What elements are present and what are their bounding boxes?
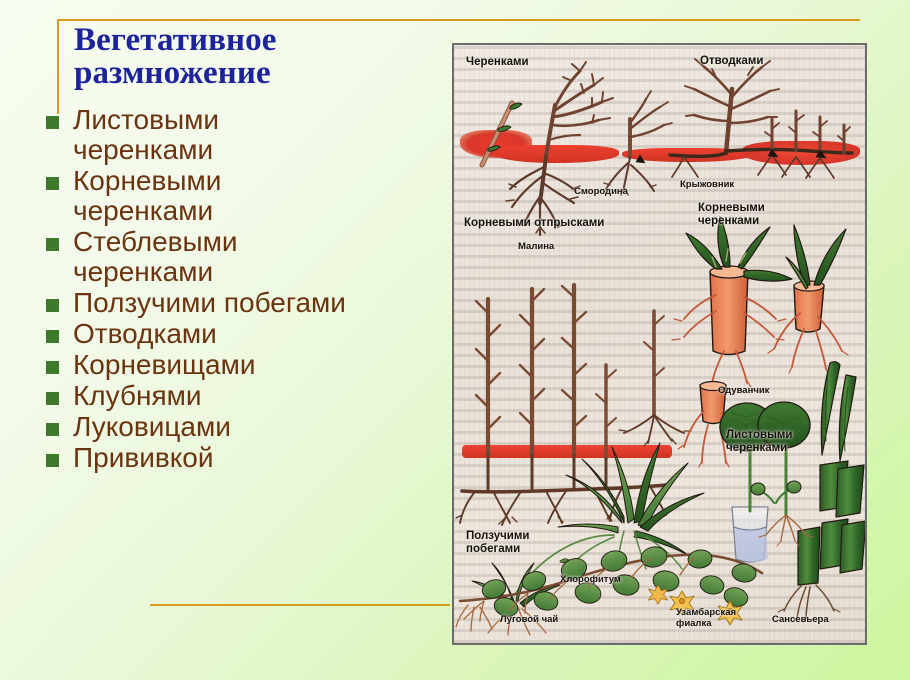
fig-root-cutting-large — [672, 217, 792, 387]
list-item-label: Отводками — [73, 319, 217, 349]
list-item[interactable]: Стеблевыми черенками — [46, 227, 450, 287]
bullet-list: Листовыми черенками Корневыми черенками … — [46, 105, 450, 474]
label-moneywort: Луговой чай — [500, 615, 558, 626]
list-item[interactable]: Корневищами — [46, 350, 450, 380]
list-item-label: Прививкой — [73, 443, 214, 473]
label-root-suckers: Корневыми отпрысками — [464, 217, 604, 230]
fig-layering-bush — [636, 59, 852, 178]
list-item-label: Листовыми черенками — [73, 105, 219, 165]
bullet-square-icon — [46, 177, 59, 190]
bullet-square-icon — [46, 361, 59, 374]
label-chlorophytum: Хлорофитум — [560, 575, 621, 586]
vegetative-propagation-illustration: Черенками Отводками Смородина Крыжовник … — [452, 43, 867, 645]
list-item-label: Стеблевыми черенками — [73, 227, 238, 287]
label-currant: Смородина — [574, 187, 628, 198]
fig-raspberry-suckers — [456, 285, 691, 525]
fig-gooseberry-stool — [604, 91, 672, 195]
label-layering: Отводками — [700, 55, 763, 68]
label-creeping-shoots: Ползучими побегами — [466, 530, 529, 556]
bullet-square-icon — [46, 238, 59, 251]
label-dandelion: Одуванчик — [718, 386, 769, 397]
list-item[interactable]: Отводками — [46, 319, 450, 349]
list-item-label: Корневищами — [73, 350, 256, 380]
label-sansevieria: Сансевьера — [772, 615, 829, 626]
bullet-square-icon — [46, 454, 59, 467]
bullet-square-icon — [46, 423, 59, 436]
list-item[interactable]: Листовыми черенками — [46, 105, 450, 165]
list-item-label: Луковицами — [73, 412, 231, 442]
list-item[interactable]: Прививкой — [46, 443, 450, 473]
list-item-label: Корневыми черенками — [73, 166, 221, 226]
bullet-square-icon — [46, 392, 59, 405]
label-saintpaulia: Узамбарская фиалка — [676, 608, 736, 629]
list-item[interactable]: Клубнями — [46, 381, 450, 411]
fig-chlorophytum-parent — [558, 443, 704, 569]
fig-cutting-stick — [482, 103, 522, 165]
list-item-label: Клубнями — [73, 381, 202, 411]
page-title: Вегетативное размножение — [74, 24, 434, 90]
label-gooseberry: Крыжовник — [680, 180, 734, 191]
list-item-label: Ползучими побегами — [73, 288, 346, 318]
bullet-square-icon — [46, 330, 59, 343]
list-item[interactable]: Ползучими побегами — [46, 288, 450, 318]
slide: Вегетативное размножение Листовыми черен… — [0, 0, 910, 680]
list-item[interactable]: Корневыми черенками — [46, 166, 450, 226]
label-leaf-cuttings: Листовыми черенками — [726, 429, 793, 455]
fig-dandelion-plant — [768, 225, 848, 375]
label-cuttings: Черенками — [466, 56, 529, 69]
list-item[interactable]: Луковицами — [46, 412, 450, 442]
label-raspberry: Малина — [518, 242, 554, 253]
label-root-cuttings: Корневыми черенками — [698, 202, 765, 228]
fig-currant-bush — [506, 62, 613, 235]
fig-rooted-crown — [456, 605, 492, 631]
bullet-square-icon — [46, 116, 59, 129]
text-column: Вегетативное размножение Листовыми черен… — [0, 0, 450, 680]
bullet-square-icon — [46, 299, 59, 312]
